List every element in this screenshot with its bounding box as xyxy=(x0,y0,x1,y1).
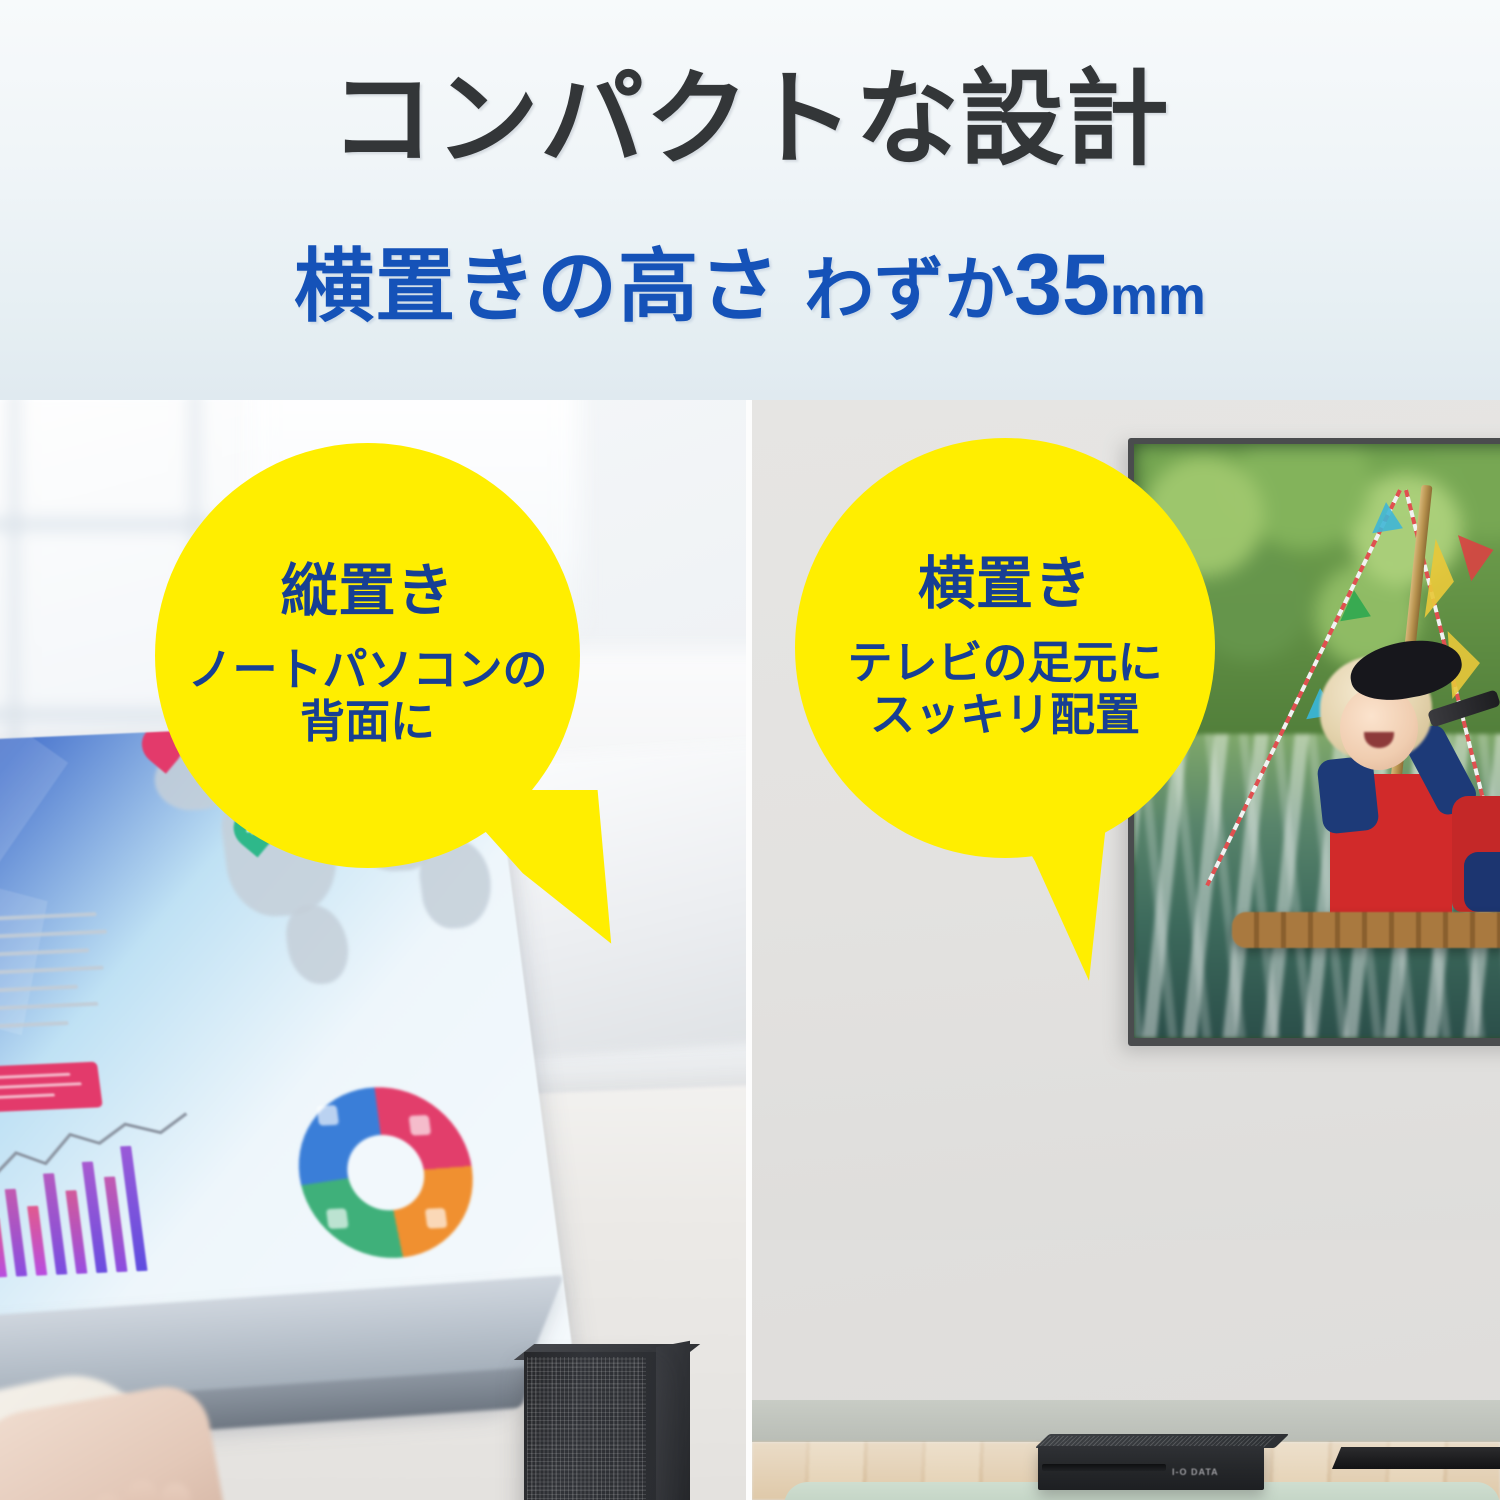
hdd-vertical-device xyxy=(524,1352,656,1500)
subtitle-number: 35 xyxy=(1014,237,1110,333)
left-speech-bubble: 縦置き ノートパソコンの 背面に xyxy=(155,443,580,868)
bar-chart xyxy=(0,1129,205,1279)
left-bubble-line-1: ノートパソコンの xyxy=(187,644,547,696)
right-bubble-body: テレビの足元に スッキリ配置 xyxy=(847,637,1162,741)
product-banner: コンパクトな設計 横置きの高さわずか35mm xyxy=(0,0,1500,1500)
right-bubble-headline: 横置き xyxy=(918,555,1092,615)
header-band: コンパクトな設計 横置きの高さわずか35mm xyxy=(0,0,1500,400)
hdd-brand-logo: I-O DATA xyxy=(1172,1466,1230,1478)
right-speech-bubble: 横置き テレビの足元に スッキリ配置 xyxy=(795,438,1215,858)
hdd-side-face xyxy=(656,1341,690,1500)
bamboo-raft xyxy=(1232,912,1500,948)
hdd-front-slot xyxy=(1042,1464,1166,1471)
left-bubble-headline: 縦置き xyxy=(281,562,455,622)
tooltip-card xyxy=(0,1062,103,1113)
hdd-grille-texture xyxy=(527,1357,646,1500)
right-bubble-line-2: スッキリ配置 xyxy=(847,689,1162,741)
subtitle-unit: mm xyxy=(1110,266,1206,326)
right-bubble-line-1: テレビの足元に xyxy=(847,637,1162,689)
subtitle-main: 横置きの高さ xyxy=(294,242,780,331)
subtitle: 横置きの高さわずか35mm xyxy=(0,222,1500,338)
soundbar xyxy=(1332,1447,1500,1469)
background-monitor xyxy=(520,741,746,1059)
page-title: コンパクトな設計 xyxy=(0,62,1500,178)
panel-divider xyxy=(746,400,752,1500)
subtitle-small: わずか xyxy=(804,251,1014,329)
left-bubble-body: ノートパソコンの 背面に xyxy=(187,644,547,748)
left-bubble-line-2: 背面に xyxy=(187,696,547,748)
